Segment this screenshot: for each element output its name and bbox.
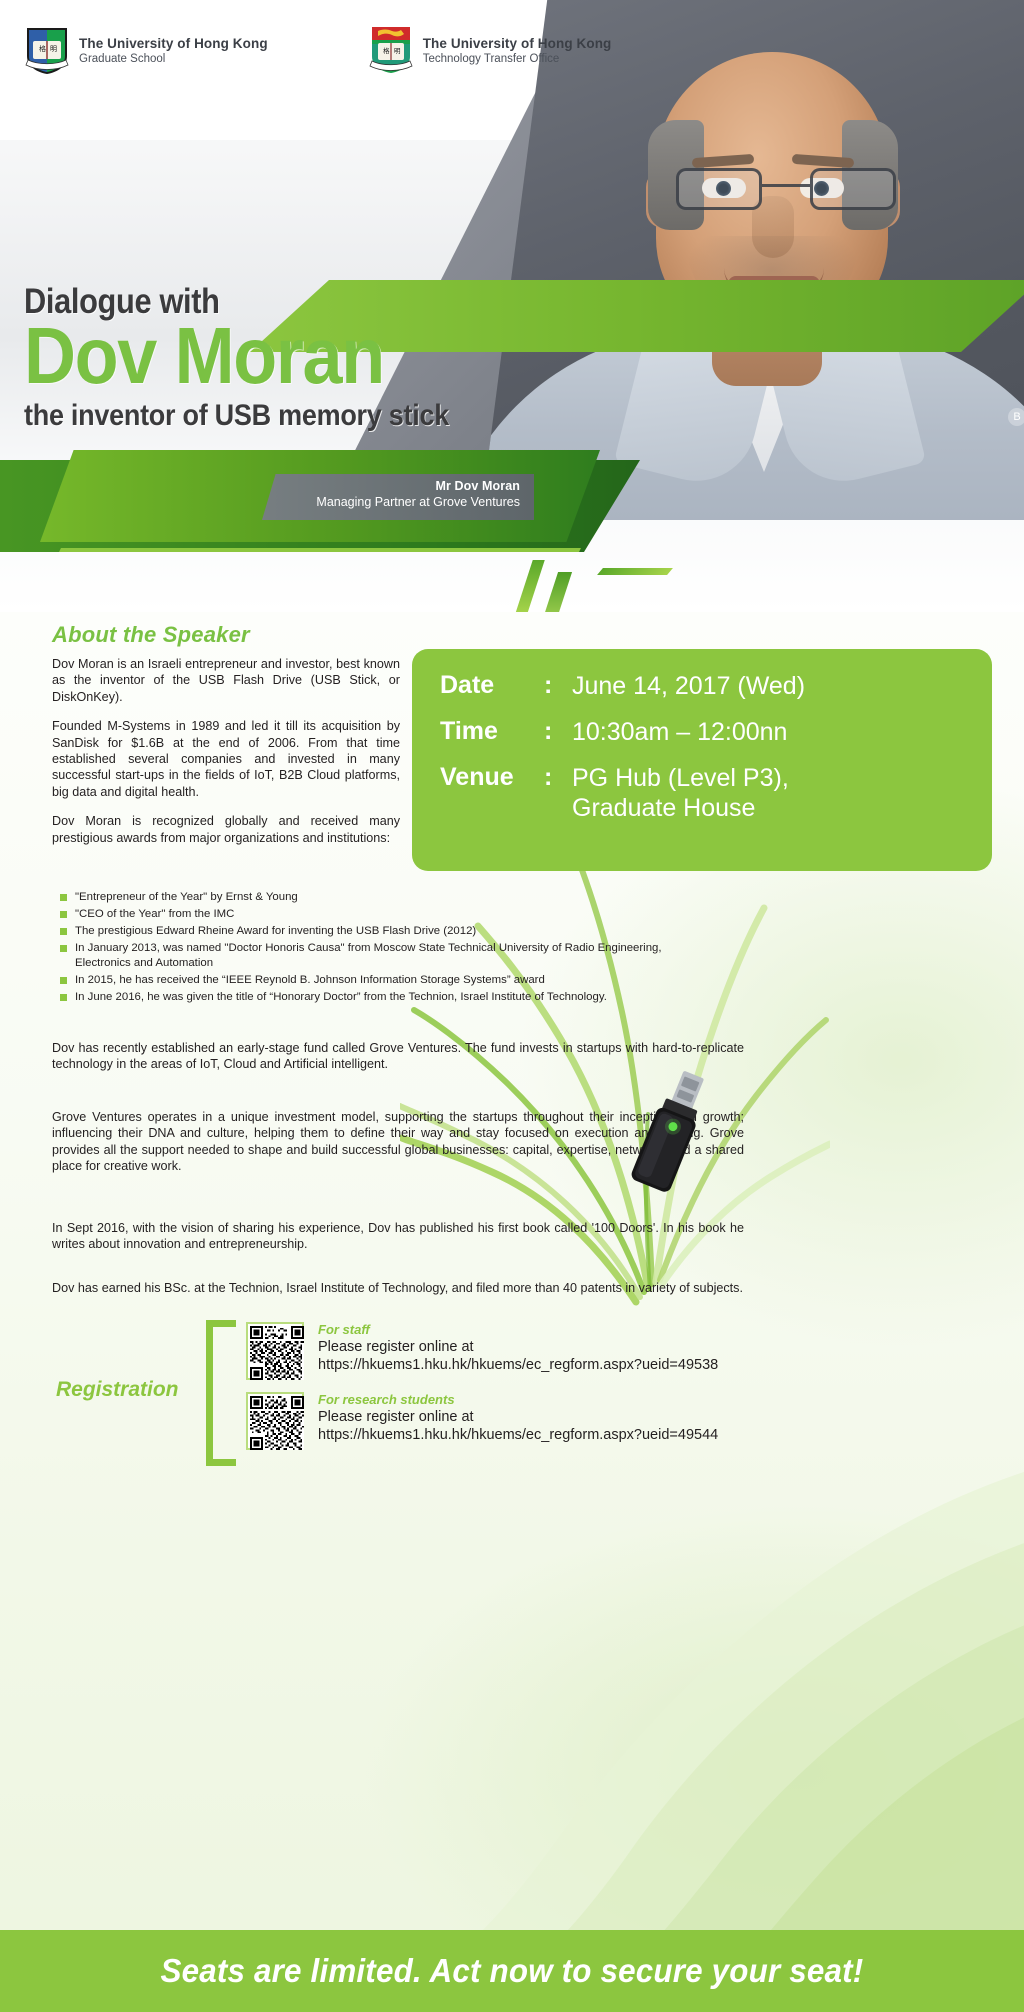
about-column: Dov Moran is an Israeli entrepreneur and… <box>52 656 400 846</box>
registration-url[interactable]: https://hkuems1.hku.hk/hkuems/ec_regform… <box>318 1356 718 1374</box>
registration-text-students: For research students Please register on… <box>318 1392 718 1450</box>
list-item-text: In January 2013, was named "Doctor Honor… <box>75 941 720 970</box>
detail-row-date: Date : June 14, 2017 (Wed) <box>440 671 992 701</box>
list-item-text: In June 2016, he was given the title of … <box>75 990 607 1005</box>
detail-colon: : <box>544 671 572 700</box>
registration-audience: For research students <box>318 1392 718 1407</box>
bullet-square-icon <box>60 911 67 918</box>
list-item: In 2015, he has received the “IEEE Reyno… <box>60 973 720 988</box>
bullet-square-icon <box>60 928 67 935</box>
qr-code-icon[interactable] <box>246 1322 304 1380</box>
hku-crest-icon: 格 明 <box>368 24 414 76</box>
green-tick-mark <box>597 568 673 575</box>
photo-glasses-bridge <box>762 184 810 187</box>
list-item: "CEO of the Year" from the IMC <box>60 907 720 922</box>
photo-lens-right <box>810 168 896 210</box>
registration-item-students[interactable]: For research students Please register on… <box>246 1392 718 1450</box>
nameplate-name: Mr Dov Moran <box>262 479 520 493</box>
registration-instruction: Please register online at <box>318 1408 718 1426</box>
about-paragraph: Founded M-Systems in 1989 and led it til… <box>52 718 400 800</box>
registration-url[interactable]: https://hkuems1.hku.hk/hkuems/ec_regform… <box>318 1426 718 1444</box>
registration-instruction: Please register online at <box>318 1338 718 1356</box>
svg-text:明: 明 <box>394 47 401 55</box>
logo-line1: The University of Hong Kong <box>423 36 612 51</box>
about-paragraph: Dov Moran is an Israeli entrepreneur and… <box>52 656 400 705</box>
bullet-square-icon <box>60 994 67 1001</box>
list-item-text: The prestigious Edward Rheine Award for … <box>75 924 476 939</box>
detail-value: PG Hub (Level P3), Graduate House <box>572 763 789 823</box>
detail-label: Date <box>440 671 544 700</box>
registration-bracket <box>206 1320 236 1466</box>
hero-subtitle: the inventor of USB memory stick <box>24 399 492 433</box>
eyeglasses-icon <box>676 168 896 212</box>
registration-section: Registration <box>0 1306 1024 1476</box>
logo-line1: The University of Hong Kong <box>79 36 268 51</box>
green-accent-line <box>59 548 581 552</box>
hku-graduate-school-crest-icon: 格 明 <box>24 24 70 76</box>
svg-text:格: 格 <box>39 44 46 53</box>
list-item: The prestigious Edward Rheine Award for … <box>60 924 720 939</box>
logo-tto: 格 明 The University of Hong Kong Technolo… <box>368 24 612 76</box>
detail-label: Time <box>440 717 544 746</box>
event-details-box: Date : June 14, 2017 (Wed) Time : 10:30a… <box>412 649 992 871</box>
bullet-square-icon <box>60 894 67 901</box>
detail-colon: : <box>544 763 572 792</box>
speaker-nameplate: Mr Dov Moran Managing Partner at Grove V… <box>262 474 534 520</box>
detail-value: June 14, 2017 (Wed) <box>572 671 805 701</box>
about-heading: About the Speaker <box>52 622 250 648</box>
detail-row-time: Time : 10:30am – 12:00nn <box>440 717 992 747</box>
book-paragraph: In Sept 2016, with the vision of sharing… <box>52 1220 744 1253</box>
registration-label: Registration <box>56 1378 179 1402</box>
registration-item-staff[interactable]: For staff Please register online at http… <box>246 1322 718 1380</box>
header-logos: 格 明 The University of Hong Kong Graduate… <box>0 0 1024 100</box>
hero-speaker-name: Dov Moran <box>24 318 492 393</box>
decorative-swoosh <box>444 1400 1024 1930</box>
list-item: In June 2016, he was given the title of … <box>60 990 720 1005</box>
list-item: In January 2013, was named "Doctor Honor… <box>60 941 720 970</box>
about-paragraph: Dov Moran is recognized globally and rec… <box>52 813 400 846</box>
list-item-text: "Entrepreneur of the Year" by Ernst & Yo… <box>75 890 298 905</box>
svg-text:明: 明 <box>50 45 57 53</box>
list-item: "Entrepreneur of the Year" by Ernst & Yo… <box>60 890 720 905</box>
nameplate-role: Managing Partner at Grove Ventures <box>262 495 520 509</box>
list-item-text: In 2015, he has received the “IEEE Reyno… <box>75 973 545 988</box>
education-paragraph: Dov has earned his BSc. at the Technion,… <box>52 1280 744 1296</box>
detail-row-venue: Venue : PG Hub (Level P3), Graduate Hous… <box>440 763 992 823</box>
logo-graduate-school-text: The University of Hong Kong Graduate Sch… <box>79 36 268 65</box>
content-area: About the Speaker Dov Moran is an Israel… <box>0 612 1024 1930</box>
bullet-square-icon <box>60 945 67 952</box>
hero-banner: B 格 明 The University of Hong Kong <box>0 0 1024 612</box>
photo-watermark-badge: B <box>1008 408 1024 426</box>
qr-code-icon[interactable] <box>246 1392 304 1450</box>
detail-value: 10:30am – 12:00nn <box>572 717 787 747</box>
footer-text: Seats are limited. Act now to secure you… <box>161 1952 864 1990</box>
footer-banner: Seats are limited. Act now to secure you… <box>0 1930 1024 2012</box>
logo-tto-text: The University of Hong Kong Technology T… <box>423 36 612 65</box>
registration-text-staff: For staff Please register online at http… <box>318 1322 718 1380</box>
logo-line2: Technology Transfer Office <box>423 53 612 65</box>
photo-lens-left <box>676 168 762 210</box>
svg-text:格: 格 <box>383 46 390 55</box>
bullet-square-icon <box>60 977 67 984</box>
logo-line2: Graduate School <box>79 53 268 65</box>
list-item-text: "CEO of the Year" from the IMC <box>75 907 234 922</box>
detail-label: Venue <box>440 763 544 792</box>
hero-title-group: Dialogue with Dov Moran the inventor of … <box>24 282 544 433</box>
usb-flash-drive-icon <box>612 1067 732 1207</box>
registration-audience: For staff <box>318 1322 718 1337</box>
awards-list: "Entrepreneur of the Year" by Ernst & Yo… <box>60 890 720 1007</box>
logo-graduate-school: 格 明 The University of Hong Kong Graduate… <box>24 24 268 76</box>
detail-colon: : <box>544 717 572 746</box>
